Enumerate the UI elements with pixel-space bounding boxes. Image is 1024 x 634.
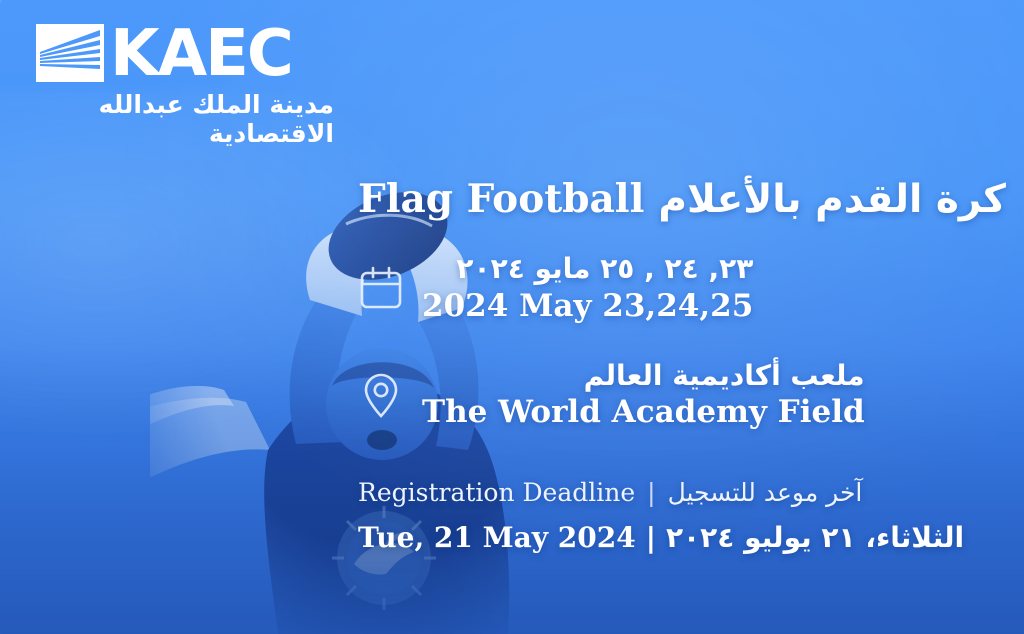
deadline-value-separator: | bbox=[646, 521, 656, 554]
deadline-separator: | bbox=[647, 478, 655, 507]
event-poster: KAEC مدينة الملك عبدالله الاقتصادية كرة … bbox=[0, 0, 1024, 634]
event-title: كرة القدم بالأعلام Flag Football bbox=[358, 176, 998, 222]
registration-deadline: آخر موعد للتسجيل | Registration Deadline… bbox=[358, 478, 998, 554]
event-date-english: 2024 May 23,24,25 bbox=[422, 288, 753, 325]
kaec-arabic-name: مدينة الملك عبدالله الاقتصادية bbox=[34, 90, 334, 148]
deadline-label-arabic: آخر موعد للتسجيل bbox=[668, 478, 863, 507]
deadline-value-english: Tue, 21 May 2024 bbox=[358, 521, 636, 554]
event-venue-row: ملعب أكاديمية العالم The World Academy F… bbox=[358, 359, 998, 432]
deadline-label-english: Registration Deadline bbox=[358, 478, 635, 507]
event-title-arabic: كرة القدم بالأعلام bbox=[658, 177, 1005, 222]
event-details: كرة القدم بالأعلام Flag Football ٢٣, ٢٤ … bbox=[358, 176, 998, 554]
deadline-value-arabic: الثلاثاء، ٢١ يوليو ٢٠٢٤ bbox=[666, 521, 964, 554]
kaec-wordmark: KAEC bbox=[110, 25, 292, 84]
event-date-row: ٢٣, ٢٤ , ٢٥ مايو ٢٠٢٤ 2024 May 23,24,25 bbox=[358, 252, 998, 325]
event-date-arabic: ٢٣, ٢٤ , ٢٥ مايو ٢٠٢٤ bbox=[422, 252, 753, 286]
kaec-rays-mark-icon bbox=[34, 22, 106, 84]
kaec-logo: KAEC مدينة الملك عبدالله الاقتصادية bbox=[34, 22, 334, 148]
event-venue-arabic: ملعب أكاديمية العالم bbox=[422, 359, 865, 393]
location-pin-icon bbox=[358, 370, 404, 420]
calendar-icon bbox=[358, 263, 404, 313]
event-title-english: Flag Football bbox=[358, 176, 644, 222]
event-venue-english: The World Academy Field bbox=[422, 394, 865, 431]
